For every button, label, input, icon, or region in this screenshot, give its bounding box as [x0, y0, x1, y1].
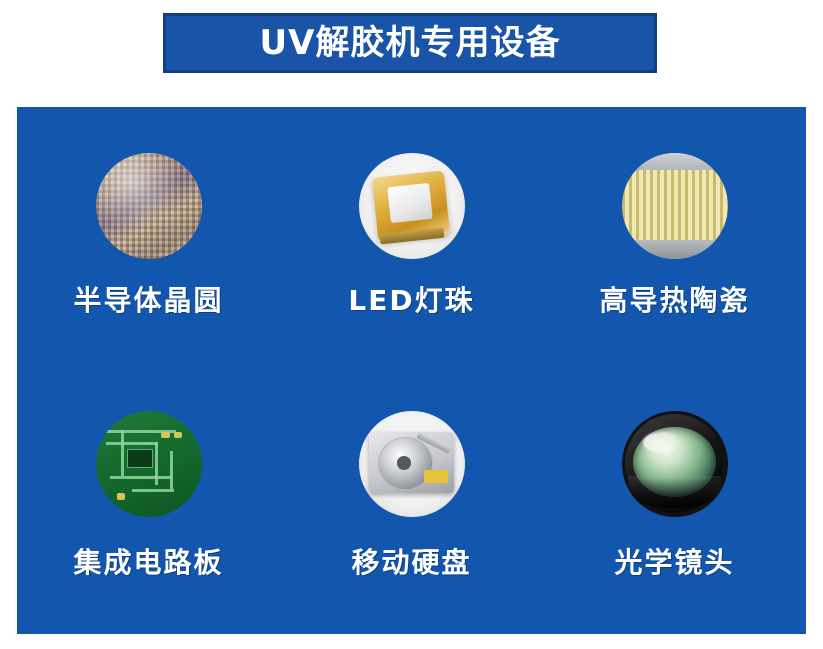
pcb-chip: [127, 449, 152, 468]
pcb-trace: [121, 430, 124, 477]
application-item-pcb: 集成电路板: [17, 371, 280, 635]
optical-lens-icon: [622, 411, 728, 517]
pcb-trace: [132, 489, 174, 492]
application-caption: 光学镜头: [614, 541, 734, 581]
application-caption: 移动硬盘: [351, 541, 471, 581]
application-caption: 集成电路板: [73, 541, 223, 581]
application-item-wafer: 半导体晶圆: [17, 107, 280, 371]
hdd-hub-shape: [397, 456, 412, 470]
semiconductor-wafer-icon: [96, 153, 202, 259]
ceramic-top-edge: [622, 153, 728, 170]
pcb-trace: [110, 476, 171, 479]
application-item-lens: 光学镜头: [543, 371, 806, 635]
application-caption: LED灯珠: [348, 279, 474, 319]
pcb-trace: [170, 451, 173, 489]
application-caption: 半导体晶圆: [73, 279, 223, 319]
application-item-ceramic: 高导热陶瓷: [543, 107, 806, 371]
poster-root: UV解胶机专用设备 半导体晶圆 LED灯珠 高导热陶: [0, 0, 823, 649]
applications-grid: 半导体晶圆 LED灯珠 高导热陶瓷: [17, 107, 806, 634]
page-title: UV解胶机专用设备: [260, 26, 561, 60]
pcb-pad: [161, 432, 169, 438]
application-item-hdd: 移动硬盘: [280, 371, 543, 635]
title-banner: UV解胶机专用设备: [163, 13, 657, 73]
ceramic-bottom-edge: [622, 240, 728, 259]
pcb-trace: [106, 442, 157, 445]
application-caption: 高导热陶瓷: [599, 279, 749, 319]
hdd-label-shape: [424, 470, 447, 483]
hard-disk-drive-icon: [359, 411, 465, 517]
printed-circuit-board-icon: [96, 411, 202, 517]
lens-glint-shape: [643, 432, 681, 453]
pcb-pad: [117, 493, 125, 499]
pcb-pad: [174, 432, 182, 438]
led-package-icon: [359, 153, 465, 259]
ceramic-substrate-icon: [622, 153, 728, 259]
applications-panel: 半导体晶圆 LED灯珠 高导热陶瓷: [17, 107, 806, 634]
lens-rim-shape: [628, 476, 721, 508]
application-item-led: LED灯珠: [280, 107, 543, 371]
led-chip-shape: [387, 183, 433, 223]
